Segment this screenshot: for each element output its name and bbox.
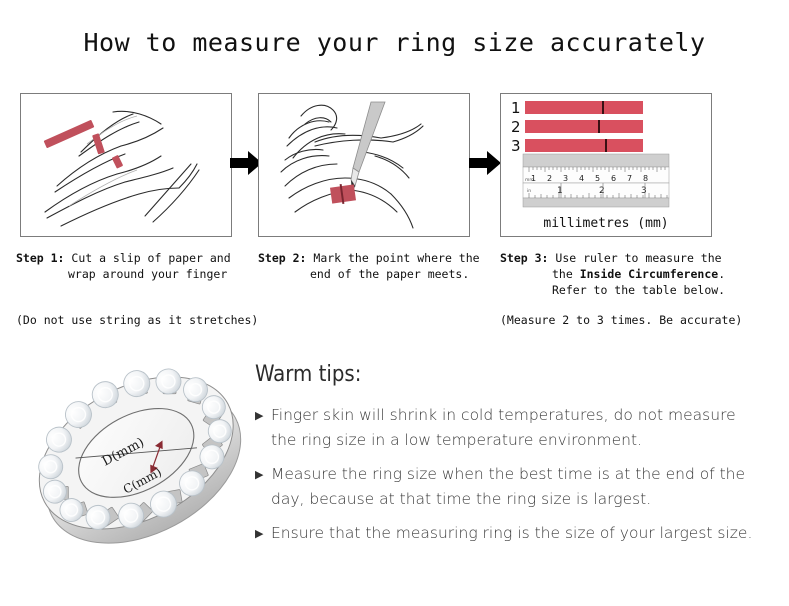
step-2-illustration-panel — [258, 93, 470, 237]
ring-diagram: D(mm) C(mm) — [22, 348, 258, 572]
step-3-label: Step 3: — [500, 251, 548, 265]
triangle-bullet-icon: ▶ — [255, 403, 271, 428]
cm-tick-5: 5 — [595, 174, 600, 183]
warm-tips-section: Warm tips: ▶ Finger skin will shrink in … — [255, 362, 765, 555]
cm-tick-3: 3 — [563, 174, 568, 183]
inch-tick-1: 1 — [557, 186, 563, 196]
step-2-label: Step 2: — [258, 251, 306, 265]
paper-slip-wrapped-lower — [112, 155, 124, 169]
page-title: How to measure your ring size accurately — [0, 28, 789, 57]
cm-unit-label: mm — [525, 178, 534, 183]
cm-tick-7: 7 — [627, 174, 632, 183]
inch-tick-3: 3 — [641, 186, 647, 196]
strip-label-3: 3 — [511, 137, 521, 155]
step-3-line2-suffix: . — [718, 267, 725, 281]
step-1-illustration-panel — [20, 93, 232, 237]
hand-with-paper-slip-drawing — [21, 94, 231, 236]
step-3-line2-prefix: the — [552, 267, 580, 281]
cm-tick-6: 6 — [611, 174, 616, 183]
step-3-line1: Use ruler to measure the — [548, 251, 721, 265]
step-3-illustration-panel: 1 2 3 1 2 3 4 5 6 7 — [500, 93, 712, 237]
step-2-line1: Mark the point where the — [306, 251, 479, 265]
measured-strip-1 — [525, 101, 643, 114]
step-1-label: Step 1: — [16, 251, 64, 265]
arrow-step2-to-step3 — [469, 148, 501, 178]
strip-label-1: 1 — [511, 99, 521, 117]
cm-tick-2: 2 — [547, 174, 552, 183]
tip-text: Measure the ring size when the best time… — [271, 462, 765, 512]
ruler-caption: millimetres (mm) — [543, 216, 668, 231]
cm-tick-4: 4 — [579, 174, 584, 183]
measured-strip-2 — [525, 120, 643, 133]
triangle-bullet-icon: ▶ — [255, 462, 271, 487]
warm-tips-heading: Warm tips: — [255, 362, 765, 387]
tip-text: Ensure that the measuring ring is the si… — [271, 521, 752, 546]
strip-label-2: 2 — [511, 118, 521, 136]
inside-circumference-emphasis: Inside Circumference — [580, 267, 718, 281]
triangle-bullet-icon: ▶ — [255, 521, 271, 546]
step-3-line3: Refer to the table below. — [500, 282, 750, 298]
step-1-caption: Step 1: Cut a slip of paper and wrap aro… — [16, 250, 248, 282]
step-2-line2: end of the paper meets. — [258, 266, 490, 282]
ruler-icon: 1 2 3 4 5 6 7 8 mm 1 2 3 in — [523, 154, 669, 207]
tip-item: ▶ Measure the ring size when the best ti… — [255, 462, 765, 512]
hand-with-pen-marking-drawing — [259, 94, 469, 236]
strips-and-ruler-drawing: 1 2 3 1 2 3 4 5 6 7 — [501, 94, 711, 236]
pen-icon — [351, 102, 385, 194]
paper-band-marked — [330, 184, 356, 204]
tip-item: ▶ Finger skin will shrink in cold temper… — [255, 403, 765, 453]
step-1-line1: Cut a slip of paper and — [64, 251, 230, 265]
tip-text: Finger skin will shrink in cold temperat… — [271, 403, 765, 453]
cm-tick-8: 8 — [643, 174, 648, 183]
measured-strip-3 — [525, 139, 643, 152]
paper-slip-wrapped-upper — [92, 133, 105, 154]
step-1-note: (Do not use string as it stretches) — [16, 313, 258, 327]
tip-item: ▶ Ensure that the measuring ring is the … — [255, 521, 765, 546]
step-2-caption: Step 2: Mark the point where the end of … — [258, 250, 490, 282]
paper-slip-loose — [44, 120, 95, 148]
step-1-line2: wrap around your finger — [16, 266, 248, 282]
step-3-note: (Measure 2 to 3 times. Be accurate) — [500, 313, 742, 327]
inch-tick-2: 2 — [599, 186, 605, 196]
step-3-caption: Step 3: Use ruler to measure the the Ins… — [500, 250, 750, 298]
eternity-ring-illustration: D(mm) C(mm) — [22, 348, 258, 572]
